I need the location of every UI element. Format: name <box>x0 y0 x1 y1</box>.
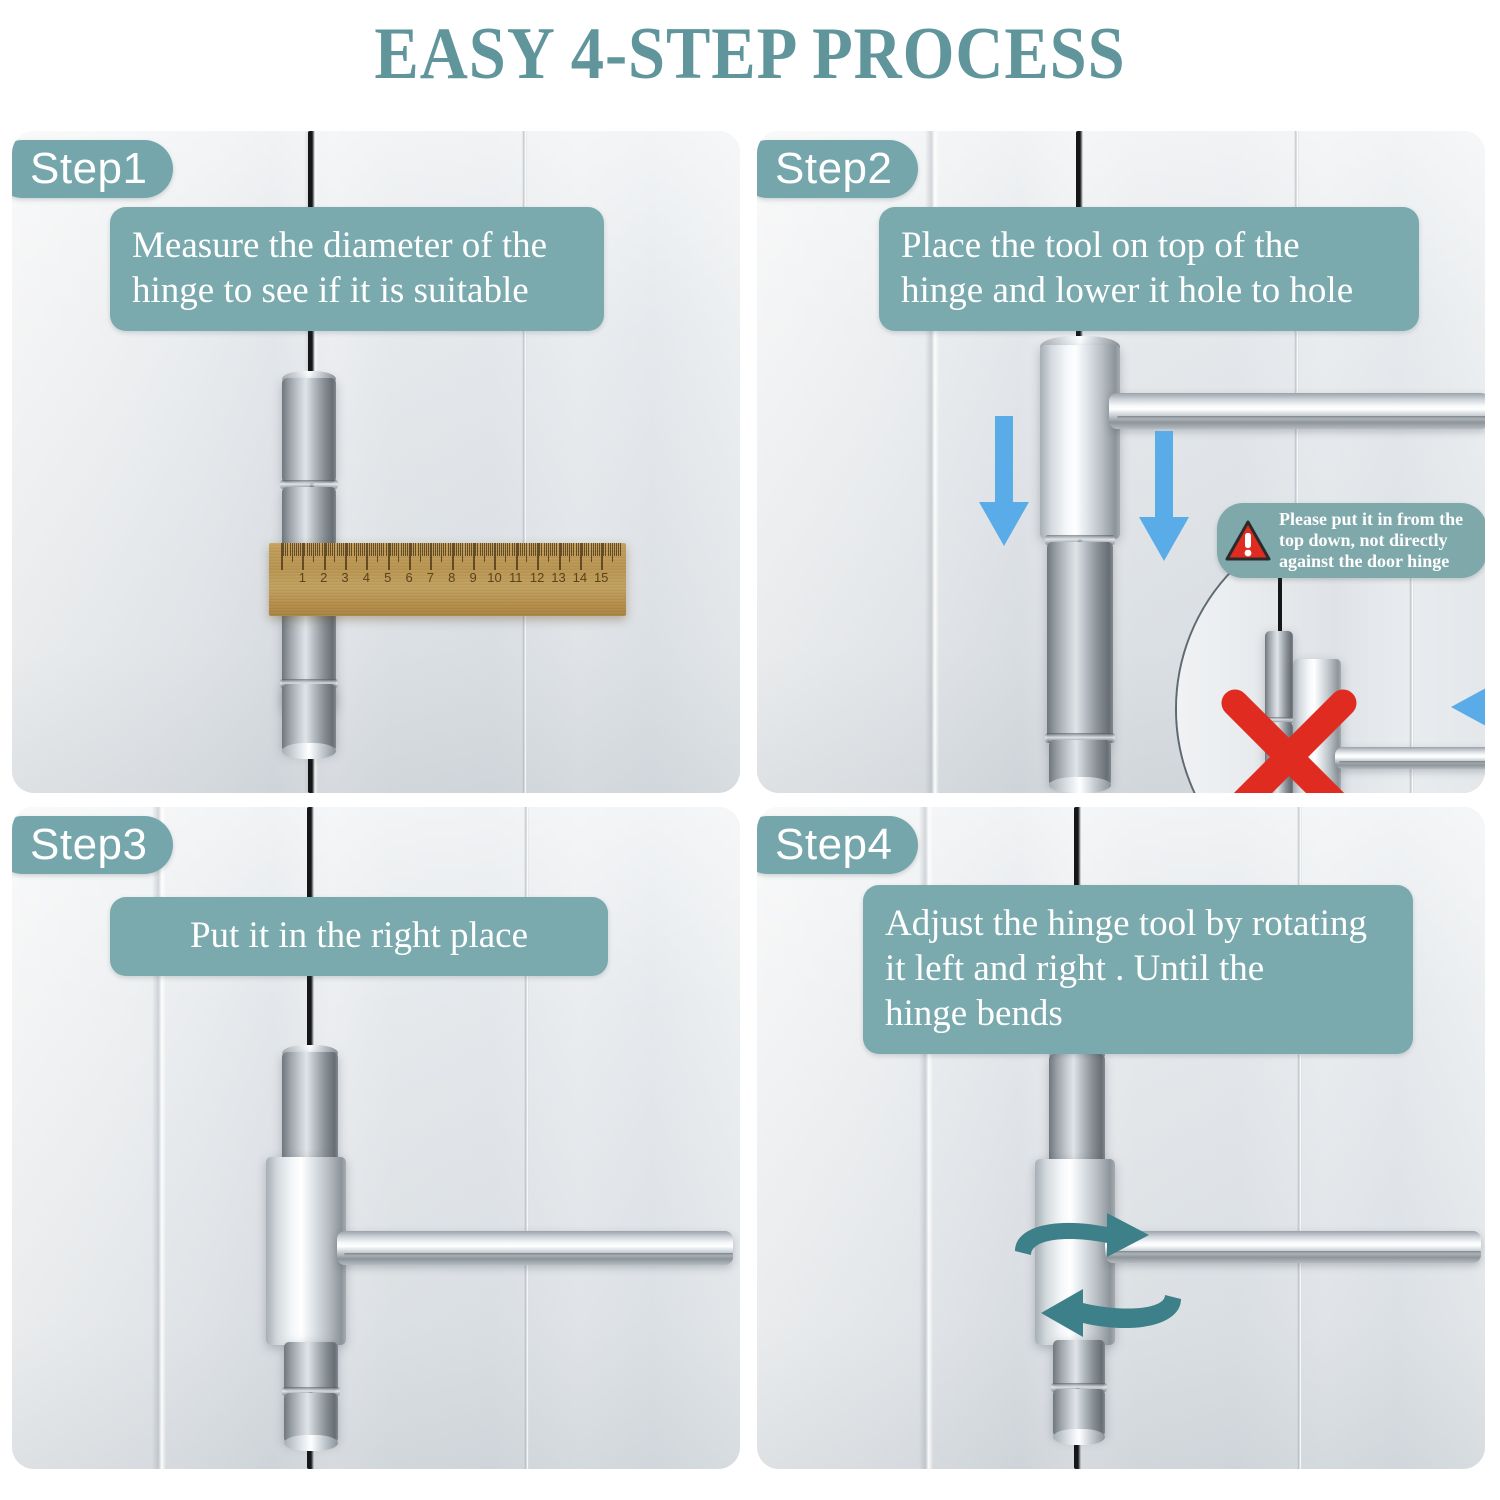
ruler-tick <box>407 543 408 556</box>
ruler-tick <box>441 543 442 562</box>
ruler-tick <box>503 543 504 556</box>
ruler-tick <box>475 543 476 556</box>
ruler-tick <box>328 543 329 556</box>
ruler-tick <box>307 543 308 556</box>
ruler-tick <box>460 543 461 556</box>
ruler-tick <box>546 543 547 556</box>
ruler-tick <box>294 543 295 556</box>
ruler-tick <box>550 543 551 556</box>
ruler-number: 2 <box>320 570 327 585</box>
ruler-tick <box>341 543 342 556</box>
ruler-tick <box>360 543 361 556</box>
ruler-number: 9 <box>469 570 476 585</box>
ruler-tick <box>349 543 350 556</box>
hinge-bottom-cap-3 <box>284 1435 338 1451</box>
ruler-tick <box>469 543 470 556</box>
hinge-upper-barrel-4 <box>1049 1054 1105 1164</box>
ruler-tick <box>398 543 399 562</box>
ruler-tick <box>541 543 542 556</box>
ruler-tick <box>582 543 583 556</box>
step-label-2: Step2 <box>757 140 918 198</box>
ruler-tick <box>334 543 335 562</box>
step-label-3: Step3 <box>12 816 173 874</box>
ruler-tick <box>522 543 523 556</box>
ruler-tick <box>285 543 286 556</box>
ruler-tick <box>375 543 376 556</box>
ruler-tick <box>383 543 384 556</box>
ruler-tick <box>364 543 365 556</box>
ruler-tick <box>512 543 513 556</box>
ruler-tick <box>533 543 534 556</box>
ruler-tick <box>426 543 427 556</box>
ruler-tick <box>456 543 457 556</box>
ruler-tick <box>599 543 600 556</box>
ruler-tick <box>576 543 577 556</box>
ruler-tick <box>505 543 506 562</box>
ruler-number: 7 <box>427 570 434 585</box>
measuring-ruler: 123456789101112131415 <box>269 543 626 616</box>
ruler-tick <box>411 543 412 556</box>
ruler-tick <box>394 543 395 556</box>
ruler-tick <box>386 543 387 556</box>
ruler-tick <box>343 543 344 556</box>
hinge-bottom-cap-1 <box>282 743 336 759</box>
ruler-tick <box>418 543 419 556</box>
down-arrow-left-icon <box>975 416 1033 548</box>
ruler-tick <box>518 543 519 556</box>
ruler-number: 14 <box>573 570 587 585</box>
ruler-tick <box>535 543 536 556</box>
ruler-tick <box>588 543 589 556</box>
ruler-tick <box>315 543 316 556</box>
ruler-tick <box>618 543 619 556</box>
ruler-tick <box>304 543 305 556</box>
ruler-tick <box>563 543 564 556</box>
ruler-tick <box>443 543 444 556</box>
ruler-tick <box>439 543 440 556</box>
ruler-tick <box>482 543 483 556</box>
ruler-tick <box>311 543 312 556</box>
ruler-tick <box>448 543 449 556</box>
ruler-tick <box>390 543 391 556</box>
ruler-tick <box>322 543 323 556</box>
ruler-tick <box>287 543 288 556</box>
ruler-tick <box>471 543 472 556</box>
hinge-bottom-cap-4 <box>1053 1429 1105 1445</box>
hinge-lower-barrel-3 <box>284 1342 338 1392</box>
ruler-tick <box>571 543 572 556</box>
ruler-tick <box>392 543 393 556</box>
ruler-tick <box>492 543 493 556</box>
ruler-tick <box>290 543 291 556</box>
hinge-upper-barrel-1 <box>282 378 336 483</box>
step-panel-1: 123456789101112131415 Step1 Measure the … <box>12 131 740 793</box>
ruler-tick <box>358 543 359 556</box>
ruler-tick <box>605 543 606 556</box>
ruler-tick <box>552 543 553 556</box>
ruler-tick <box>292 543 293 562</box>
ruler-tick <box>296 543 297 556</box>
tool-handle-bar-2 <box>1109 393 1485 429</box>
warning-triangle-icon <box>1225 520 1271 562</box>
ruler-tick <box>377 543 378 562</box>
ruler-tick <box>313 543 314 562</box>
ruler-tick <box>514 543 515 556</box>
ruler-number: 4 <box>363 570 370 585</box>
ruler-tick <box>445 543 446 556</box>
ruler-tick <box>529 543 530 556</box>
ruler-tick <box>597 543 598 556</box>
ruler-tick <box>371 543 372 556</box>
ruler-tick <box>584 543 585 556</box>
ruler-tick <box>501 543 502 556</box>
ruler-tick <box>593 543 594 556</box>
step-label-4: Step4 <box>757 816 918 874</box>
ruler-tick <box>339 543 340 556</box>
ruler-tick <box>362 543 363 556</box>
hinge-lower-barrel-1 <box>282 684 336 752</box>
ruler-tick <box>539 543 540 556</box>
tool-handle-groove-2 <box>1117 416 1485 419</box>
ruler-tick <box>544 543 545 556</box>
ruler-tick <box>486 543 487 556</box>
ruler-tick <box>465 543 466 556</box>
ruler-tick <box>531 543 532 556</box>
ruler-tick <box>401 543 402 556</box>
tool-handle-bar-3 <box>337 1231 733 1265</box>
step-instruction-4: Adjust the hinge tool by rotating it lef… <box>863 885 1413 1054</box>
ruler-tick <box>526 543 527 562</box>
hinge-bottom-cap-2 <box>1049 777 1111 793</box>
ruler-tick <box>435 543 436 556</box>
ruler-tick <box>403 543 404 556</box>
ruler-number: 8 <box>448 570 455 585</box>
ruler-tick <box>509 543 510 556</box>
warning-callout: Please put it in from the top down, not … <box>1217 503 1485 578</box>
ruler-tick <box>573 543 574 556</box>
ruler-tick <box>450 543 451 556</box>
ruler-tick <box>462 543 463 562</box>
ruler-tick <box>520 543 521 556</box>
ruler-tick <box>354 543 355 556</box>
ruler-number: 11 <box>509 570 523 585</box>
tool-handle-groove-3 <box>344 1253 733 1256</box>
ruler-tick <box>405 543 406 556</box>
ruler-tick <box>578 543 579 556</box>
step-label-1: Step1 <box>12 140 173 198</box>
ruler-tick <box>424 543 425 556</box>
step-panel-4: Step4 Adjust the hinge tool by rotating … <box>757 807 1485 1469</box>
hinge-upper-barrel-3 <box>282 1052 338 1162</box>
ruler-number: 1 <box>299 570 306 585</box>
ruler-tick <box>548 543 549 562</box>
ruler-tick <box>369 543 370 556</box>
page-title: EASY 4-STEP PROCESS <box>75 6 1425 102</box>
ruler-tick <box>488 543 489 556</box>
ruler-number: 3 <box>341 570 348 585</box>
ruler-tick <box>556 543 557 556</box>
ruler-tick <box>554 543 555 556</box>
ruler-tick <box>569 543 570 562</box>
ruler-tick <box>373 543 374 556</box>
tool-sleeve-2 <box>1040 345 1120 539</box>
ruler-tick <box>477 543 478 556</box>
ruler-tick <box>484 543 485 562</box>
ruler-tick <box>561 543 562 556</box>
ruler-tick <box>379 543 380 556</box>
step-instruction-2: Place the tool on top of the hinge and l… <box>879 207 1419 331</box>
ruler-tick <box>351 543 352 556</box>
ruler-tick <box>612 543 613 562</box>
ruler-tick <box>603 543 604 556</box>
ruler-tick <box>298 543 299 556</box>
ruler-tick <box>347 543 348 556</box>
ruler-tick <box>497 543 498 556</box>
ruler-tick <box>422 543 423 556</box>
ruler-number: 10 <box>487 570 501 585</box>
ruler-tick <box>608 543 609 556</box>
step-instruction-1: Measure the diameter of the hinge to see… <box>110 207 604 331</box>
ruler-number: 15 <box>594 570 608 585</box>
ruler-number: 5 <box>384 570 391 585</box>
ruler-tick <box>480 543 481 556</box>
ruler-tick <box>565 543 566 556</box>
step-panel-3: Step3 Put it in the right place <box>12 807 740 1469</box>
ruler-tick <box>356 543 357 562</box>
ruler-tick <box>300 543 301 556</box>
ruler-tick <box>420 543 421 562</box>
ruler-tick <box>309 543 310 556</box>
ruler-tick <box>413 543 414 556</box>
ruler-number: 6 <box>405 570 412 585</box>
ruler-number: 12 <box>530 570 544 585</box>
ruler-tick <box>610 543 611 556</box>
ruler-tick <box>458 543 459 556</box>
ruler-tick <box>330 543 331 556</box>
ruler-tick <box>567 543 568 556</box>
ruler-tick <box>591 543 592 562</box>
ruler-tick <box>620 543 621 556</box>
ruler-tick <box>415 543 416 556</box>
ruler-tick <box>454 543 455 556</box>
hinge-barrel-2 <box>1047 542 1113 744</box>
ruler-tick <box>283 543 284 556</box>
inset-left-arrow-upper-icon <box>1449 681 1485 733</box>
infographic-page: EASY 4-STEP PROCESS 12345678910111213141… <box>0 0 1500 1500</box>
ruler-tick <box>490 543 491 556</box>
step-panel-2: Please put it in from the top down, not … <box>757 131 1485 793</box>
warning-text: Please put it in from the top down, not … <box>1279 509 1463 572</box>
ruler-tick <box>467 543 468 556</box>
ruler-tick <box>332 543 333 556</box>
ruler-tick <box>337 543 338 556</box>
tool-sleeve-3 <box>266 1157 346 1345</box>
ruler-tick <box>433 543 434 556</box>
rotate-arrow-lower-icon <box>1007 1255 1207 1375</box>
ruler-tick <box>507 543 508 556</box>
ruler-tick <box>428 543 429 556</box>
ruler-tick <box>326 543 327 556</box>
ruler-tick <box>319 543 320 556</box>
ruler-number: 13 <box>551 570 565 585</box>
ruler-tick <box>499 543 500 556</box>
step-instruction-3: Put it in the right place <box>110 897 608 976</box>
ruler-tick <box>616 543 617 556</box>
ruler-tick <box>614 543 615 556</box>
ruler-tick <box>317 543 318 556</box>
red-x-icon <box>1215 683 1363 793</box>
ruler-tick <box>586 543 587 556</box>
ruler-tick <box>381 543 382 556</box>
ruler-tick <box>396 543 397 556</box>
ruler-tick <box>595 543 596 556</box>
ruler-tick <box>437 543 438 556</box>
ruler-tick <box>524 543 525 556</box>
